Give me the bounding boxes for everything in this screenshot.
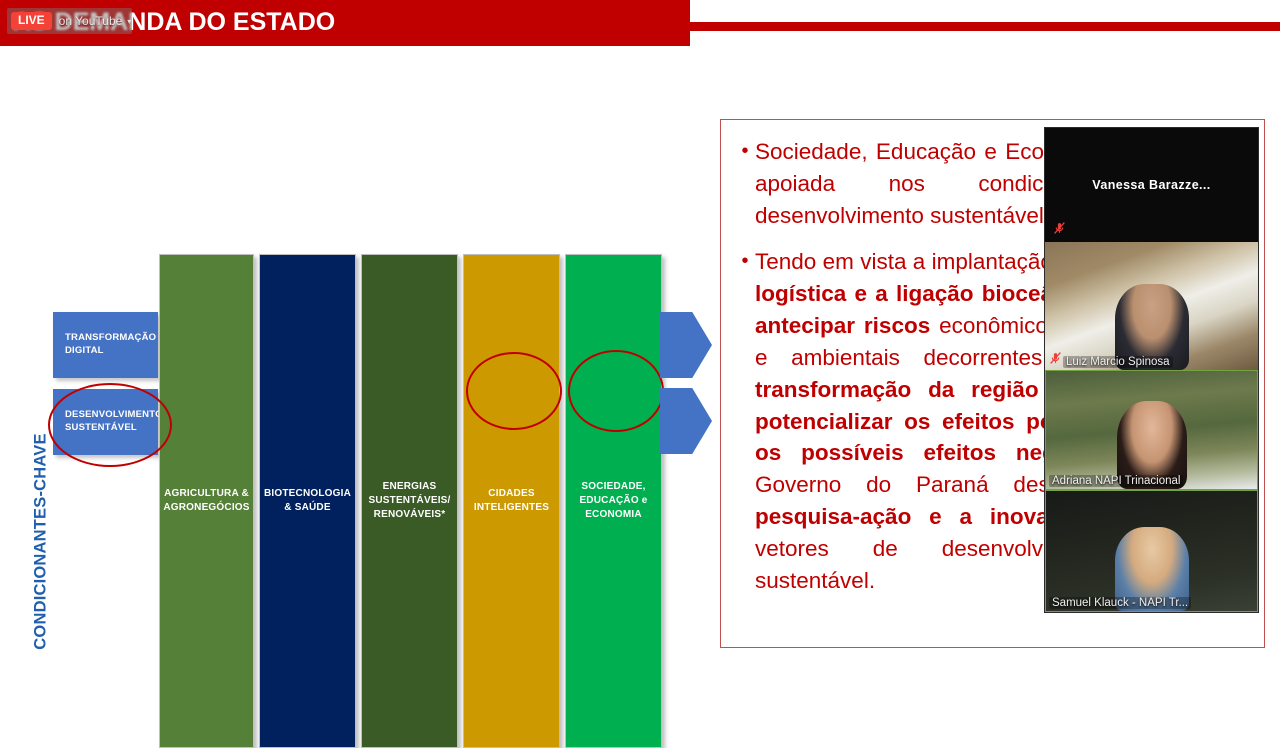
microphone-muted-icon [1049,350,1062,366]
video-tile-vanessa[interactable]: Vanessa Barazze... [1045,128,1258,242]
condition-label: TRANSFORMAÇÃO DIGITAL [65,332,158,358]
pillar-label: BIOTECNOLOGIA & SAÚDE [260,487,355,515]
pillar-sociedade-educacao-economia[interactable]: SOCIEDADE, EDUCAÇÃO e ECONOMIA [565,254,662,748]
video-conference-panel: Vanessa Barazze... Luiz Marcio Spinosa A… [1044,127,1259,613]
live-badge: LIVE [11,12,52,29]
condition-box-desenvolvimento-sustentavel[interactable]: DESENVOLVIMENTO SUSTENTÁVEL [53,389,158,455]
arrow-right-icon [660,388,712,454]
participant-name: Adriana NAPI Trinacional [1049,475,1183,487]
pillar-label: SOCIEDADE, EDUCAÇÃO e ECONOMIA [566,480,661,522]
video-tile-luiz[interactable]: Luiz Marcio Spinosa [1045,242,1258,370]
bullet-icon: • [735,246,755,597]
video-tile-samuel[interactable]: Samuel Klauck - NAPI Tr... [1045,490,1258,612]
microphone-muted-icon [1053,220,1066,236]
live-stream-overlay[interactable]: LIVE on YouTube ▾ [7,8,132,34]
pillar-label: CIDADES INTELIGENTES [464,487,559,515]
strategy-diagram: CONDICIONANTES-CHAVE TRANSFORMAÇÃO DIGIT… [0,240,720,520]
condition-label: DESENVOLVIMENTO SUSTENTÁVEL [65,409,158,435]
pillar-label: ENERGIAS SUSTENTÁVEIS/ RENOVÁVEIS* [362,480,457,522]
chevron-down-icon[interactable]: ▾ [127,17,131,26]
pillar-biotecnologia-saude[interactable]: BIOTECNOLOGIA & SAÚDE [259,254,356,748]
diagram-axis-label: CONDICIONANTES-CHAVE [32,418,51,666]
video-tile-adriana[interactable]: Adriana NAPI Trinacional [1045,370,1258,490]
pillar-agricultura-agronegocios[interactable]: AGRICULTURA & AGRONEGÓCIOS [159,254,254,748]
header-rule [683,22,1280,31]
pillar-energias-sustentaveis[interactable]: ENERGIAS SUSTENTÁVEIS/ RENOVÁVEIS* [361,254,458,748]
participant-name: Vanessa Barazze... [1045,178,1258,192]
participant-name: Luiz Marcio Spinosa [1063,356,1173,368]
condition-box-transformacao-digital[interactable]: TRANSFORMAÇÃO DIGITAL [53,312,158,378]
pillar-cidades-inteligentes[interactable]: CIDADES INTELIGENTES [463,254,560,748]
participant-name: Samuel Klauck - NAPI Tr... [1049,597,1191,609]
pillar-label: AGRICULTURA & AGRONEGÓCIOS [160,487,253,515]
live-platform-label: on YouTube [59,14,123,28]
arrow-right-icon [660,312,712,378]
bullet-icon: • [735,136,755,232]
